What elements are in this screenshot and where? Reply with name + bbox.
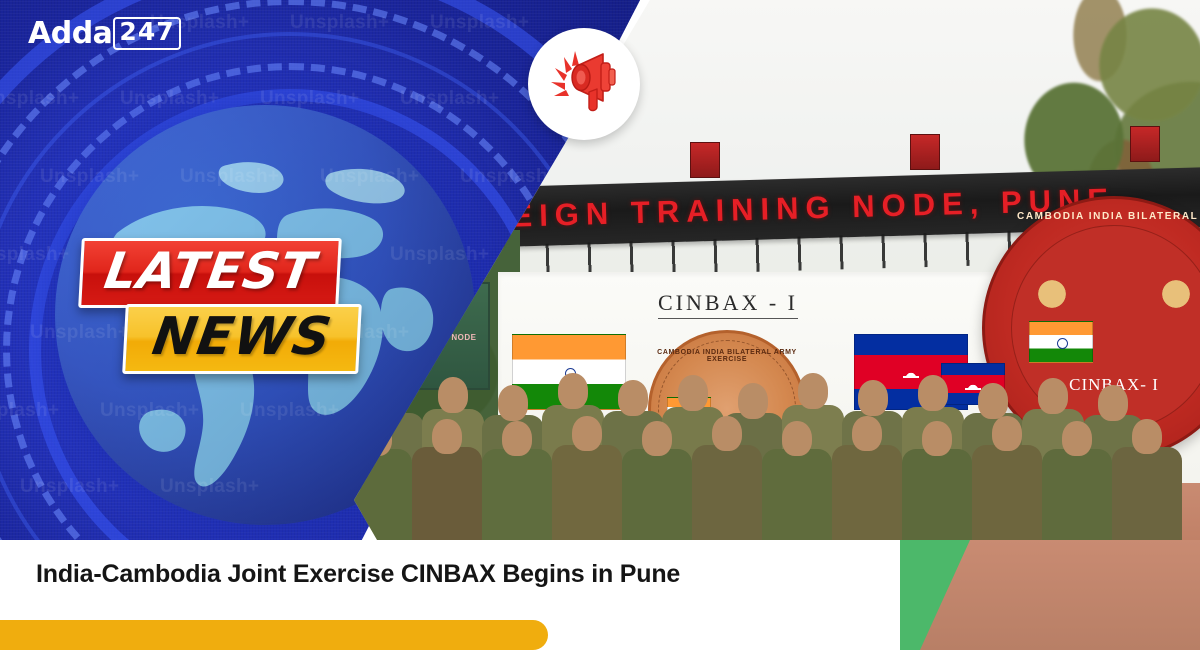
soldier-seated: [972, 445, 1042, 545]
soldier-seated: [832, 445, 902, 545]
soldier-seated: [762, 449, 832, 545]
latest-news-badge-group: LATEST NEWS: [72, 238, 432, 374]
megaphone-badge: [528, 28, 640, 140]
unit-crest: [910, 134, 940, 170]
soldier-seated: [1112, 447, 1182, 545]
soldier-seated: [482, 449, 552, 545]
news-graphic-canvas: Unsplash+ Unsplash+ Unsplash+ Unsplash+ …: [0, 0, 1200, 650]
megaphone-icon: [545, 49, 623, 119]
soldier-seated: [692, 445, 762, 545]
logo-box: 247: [113, 17, 180, 50]
roundel-top-text: CAMBODIA INDIA BILATERAL A: [985, 211, 1200, 222]
news-badge: NEWS: [122, 304, 362, 374]
accent-bar: [0, 620, 548, 650]
unit-crest: [690, 142, 720, 178]
unit-crest: [1130, 126, 1160, 162]
adda247-logo[interactable]: Adda 247: [28, 16, 181, 51]
gantry-banner-text: REIGN TRAINING NODE, PUNE: [482, 182, 1116, 236]
soldier-seated: [902, 449, 972, 545]
soldier-seated: [622, 449, 692, 545]
soldier-seated: [412, 447, 482, 545]
latest-badge: LATEST: [78, 238, 342, 308]
news-badge-label: NEWS: [149, 311, 335, 364]
soldier-seated: [1042, 449, 1112, 545]
photo-bottom-right-extension: [900, 540, 1200, 650]
headline-title: India-Cambodia Joint Exercise CINBAX Beg…: [36, 560, 680, 589]
logo-word: Adda: [28, 16, 112, 51]
latest-badge-label: LATEST: [101, 246, 319, 297]
soldier-seated: [552, 445, 622, 545]
